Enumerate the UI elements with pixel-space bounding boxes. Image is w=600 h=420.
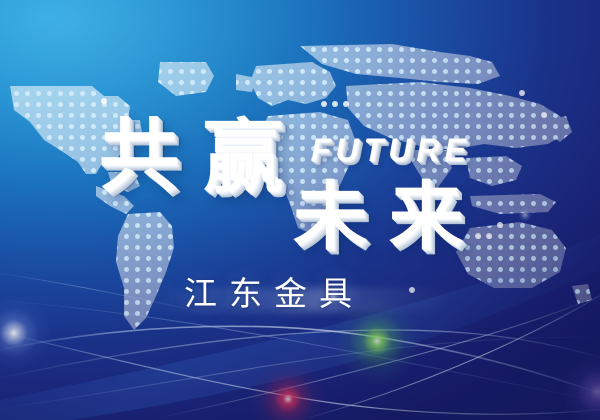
headline-char-gong: 共	[99, 117, 179, 197]
headline-future-text: FUTURE	[311, 134, 471, 166]
headline-char-lai: 来	[389, 180, 463, 254]
headline-group: 共 赢 FUTURE 未 来 江东金具	[0, 0, 600, 420]
headline-char-wei: 未	[293, 180, 367, 254]
promotional-banner: 共 赢 FUTURE 未 来 江东金具	[0, 0, 600, 420]
company-name-subtitle: 江东金具	[184, 276, 364, 312]
headline-char-ying: 赢	[203, 118, 283, 198]
